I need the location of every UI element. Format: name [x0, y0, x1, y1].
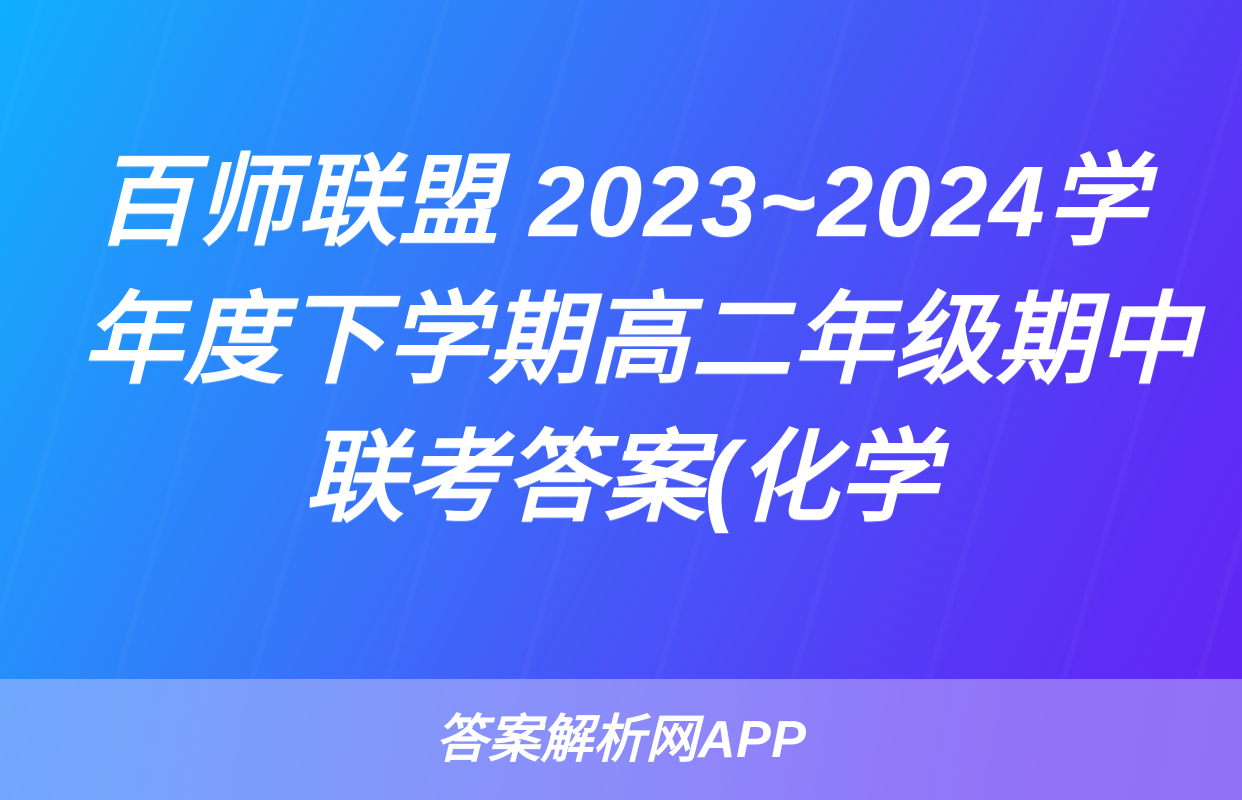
footer-watermark-band: 答案解析网APP	[0, 679, 1242, 800]
page-title: 百师联盟 2023~2024学 年度下学期高二年级期中 联考答案(化学	[0, 0, 1242, 679]
watermark-text: 答案解析网APP	[436, 712, 807, 768]
title-line-1: 百师联盟 2023~2024学	[82, 133, 1160, 271]
title-line-2: 年度下学期高二年级期中	[82, 271, 1160, 409]
title-line-3: 联考答案(化学	[304, 409, 937, 547]
poster-root: 百师联盟 2023~2024学 年度下学期高二年级期中 联考答案(化学 答案解析…	[0, 0, 1242, 800]
